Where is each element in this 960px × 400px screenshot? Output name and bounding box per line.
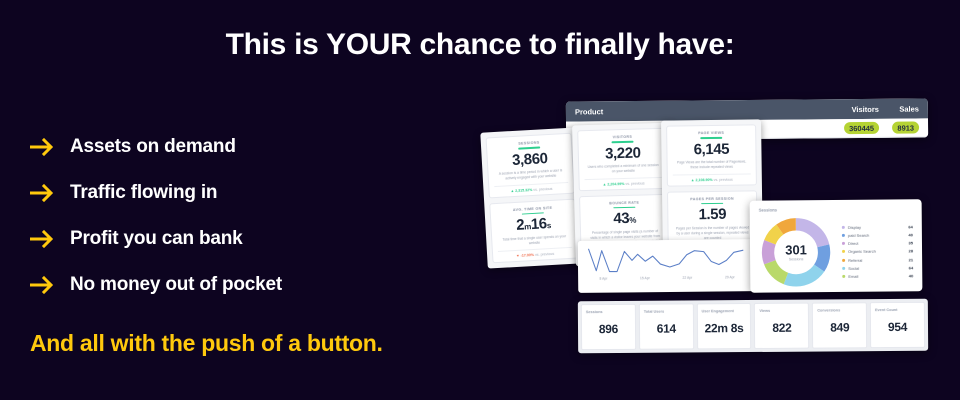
legend-value: 40 bbox=[909, 274, 913, 279]
list-item-label: Profit you can bank bbox=[64, 228, 243, 250]
metric-label: VISITORS bbox=[583, 134, 661, 140]
donut-total-value: 301 bbox=[785, 243, 807, 256]
metric-underline bbox=[522, 212, 544, 215]
list-item: Profit you can bank bbox=[30, 216, 450, 262]
donut-chart: 301 Sessions bbox=[759, 215, 834, 290]
benefit-list: Assets on demand Traffic flowing in Prof… bbox=[30, 124, 450, 308]
legend-label: Direct bbox=[848, 241, 909, 247]
metric-underline bbox=[700, 137, 722, 139]
kpi-label: Total Users bbox=[644, 309, 689, 313]
metric-card-stack-left: SESSIONS 3,860 A session is a time perio… bbox=[480, 127, 583, 268]
arrow-right-icon bbox=[30, 276, 64, 294]
trend-value: 2,204.99% bbox=[607, 182, 624, 186]
panel-title: Sessions bbox=[759, 206, 913, 212]
legend-swatch-icon bbox=[842, 226, 845, 229]
legend-value: 40 bbox=[908, 232, 912, 237]
page-title: This is YOUR chance to finally have: bbox=[0, 28, 960, 62]
metric-value-unit-2: s bbox=[547, 221, 552, 230]
metric-value: 1.59 bbox=[673, 207, 751, 224]
metric-value: 3,860 bbox=[492, 150, 567, 170]
totals-sales: 8913 bbox=[879, 121, 919, 133]
line-chart-svg bbox=[583, 241, 751, 277]
line-chart-x-axis: 8 Apr 15 Apr 22 Apr 29 Apr bbox=[583, 275, 751, 281]
kpi-label: Event Count bbox=[875, 308, 920, 312]
metric-label: BOUNCE RATE bbox=[585, 199, 663, 205]
kpi-value: 22m 8s bbox=[702, 321, 747, 335]
metric-value: 43% bbox=[585, 210, 663, 228]
list-item-label: Traffic flowing in bbox=[64, 182, 217, 204]
metric-trend: ▲ 2,108.90% vs. previous bbox=[673, 173, 751, 185]
metric-value: 6,145 bbox=[672, 141, 750, 158]
metric-value-sub: 16 bbox=[530, 215, 547, 233]
kpi-label: Conversions bbox=[817, 308, 862, 312]
legend-label: Social bbox=[848, 265, 909, 271]
column-header-sales: Sales bbox=[879, 104, 919, 113]
list-item: No money out of pocket bbox=[30, 262, 450, 308]
legend-swatch-icon bbox=[842, 242, 845, 245]
metric-value-main: 43 bbox=[613, 210, 629, 227]
metric-description: Page Views are the total number of Pagev… bbox=[675, 160, 749, 171]
x-tick: 15 Apr bbox=[640, 276, 650, 280]
donut-center-label: 301 Sessions bbox=[759, 215, 834, 290]
metric-label: SESSIONS bbox=[492, 139, 566, 147]
legend-swatch-icon bbox=[842, 250, 845, 253]
trend-value: 2,108.90% bbox=[695, 178, 712, 182]
legend-swatch-icon bbox=[842, 259, 845, 262]
x-tick: 22 Apr bbox=[682, 276, 692, 280]
trend-up-icon: ▲ bbox=[603, 182, 607, 186]
kpi-card-conversions: Conversions 849 bbox=[812, 302, 867, 348]
metric-value-unit: % bbox=[629, 216, 636, 225]
legend-value: 21 bbox=[909, 257, 913, 262]
trend-note: vs. previous bbox=[625, 181, 644, 186]
kpi-card-user-engagement: User Engagement 22m 8s bbox=[696, 303, 751, 349]
trend-up-icon: ▲ bbox=[510, 189, 514, 193]
closing-tagline: And all with the push of a button. bbox=[30, 330, 383, 357]
kpi-card-event-count: Event Count 954 bbox=[870, 302, 925, 348]
legend-label: paid Search bbox=[848, 232, 909, 238]
kpi-value: 849 bbox=[817, 320, 862, 334]
kpi-value: 954 bbox=[875, 320, 920, 334]
metric-value: 3,220 bbox=[584, 145, 662, 163]
metric-trend: ▲ 2,315.32% vs. previous bbox=[494, 182, 568, 197]
metric-label: PAGES PER SESSION bbox=[673, 196, 751, 201]
column-header-visitors: Visitors bbox=[827, 104, 879, 113]
list-item-label: Assets on demand bbox=[64, 136, 236, 158]
list-item-label: No money out of pocket bbox=[64, 274, 282, 296]
trend-note: vs. previous bbox=[535, 252, 554, 257]
metric-description: Total time that a single user spends on … bbox=[499, 234, 569, 248]
legend-item: Email 40 bbox=[842, 272, 913, 281]
legend-label: Organic Search bbox=[848, 249, 909, 255]
metric-underline bbox=[612, 141, 634, 143]
kpi-label: Sessions bbox=[586, 310, 631, 314]
trend-value: -17.00% bbox=[521, 253, 535, 258]
dashboard-collage: Product Visitors Sales TOTALS (101 items… bbox=[462, 88, 942, 373]
legend-swatch-icon bbox=[842, 234, 845, 237]
legend-value: 35 bbox=[909, 241, 913, 246]
kpi-value: 822 bbox=[759, 321, 804, 335]
legend-label: Email bbox=[848, 274, 909, 280]
donut-legend: Display 64 paid Search 40 Direct 35 Orga… bbox=[833, 222, 914, 281]
arrow-right-icon bbox=[30, 184, 64, 202]
totals-visitors: 360445 bbox=[827, 122, 879, 134]
kpi-card-total-users: Total Users 614 bbox=[639, 303, 694, 349]
x-tick: 8 Apr bbox=[599, 277, 607, 281]
metric-label: AVG. TIME ON SITE bbox=[496, 204, 570, 212]
legend-value: 64 bbox=[908, 224, 912, 229]
metric-card-sessions: SESSIONS 3,860 A session is a time perio… bbox=[486, 133, 575, 198]
legend-value: 64 bbox=[909, 265, 913, 270]
trend-up-icon: ▲ bbox=[691, 178, 695, 182]
column-header-product: Product bbox=[575, 105, 827, 116]
metric-label: PAGE VIEWS bbox=[672, 130, 750, 135]
kpi-value: 614 bbox=[644, 321, 689, 335]
metric-trend: ▲ 2,204.99% vs. previous bbox=[585, 176, 663, 189]
line-chart-panel: 8 Apr 15 Apr 22 Apr 29 Apr bbox=[578, 239, 757, 293]
metric-card-avg-time-on-site: AVG. TIME ON SITE 2m16s Total time that … bbox=[489, 198, 578, 263]
metric-underline bbox=[701, 202, 723, 204]
kpi-card-sessions: Sessions 896 bbox=[581, 304, 636, 350]
metric-description: A session is a time period in which a us… bbox=[496, 168, 566, 182]
kpi-value: 896 bbox=[586, 322, 631, 336]
arrow-right-icon bbox=[30, 138, 64, 156]
list-item: Assets on demand bbox=[30, 124, 450, 170]
kpi-label: User Engagement bbox=[702, 309, 747, 313]
trend-note: vs. previous bbox=[533, 186, 552, 191]
legend-label: Display bbox=[848, 224, 909, 230]
x-tick: 29 Apr bbox=[725, 275, 735, 279]
legend-value: 28 bbox=[909, 249, 913, 254]
sessions-donut-panel: Sessions 301 Sessions bbox=[750, 199, 923, 292]
kpi-card-views: Views 822 bbox=[754, 303, 809, 349]
metric-underline bbox=[613, 206, 635, 208]
legend-swatch-icon bbox=[842, 275, 845, 278]
metric-trend: ▼ -17.00% vs. previous bbox=[498, 247, 572, 262]
metric-description: Users who completed a minimum of one ses… bbox=[586, 163, 660, 175]
trend-note: vs. previous bbox=[714, 177, 733, 181]
trend-value: 2,315.32% bbox=[515, 188, 532, 193]
legend-swatch-icon bbox=[842, 267, 845, 270]
kpi-strip-panel: Sessions 896 Total Users 614 User Engage… bbox=[578, 299, 928, 353]
kpi-label: Views bbox=[759, 309, 804, 313]
list-item: Traffic flowing in bbox=[30, 170, 450, 216]
metric-card-visitors: VISITORS 3,220 Users who completed a min… bbox=[577, 128, 669, 191]
arrow-right-icon bbox=[30, 230, 64, 248]
totals-sales-value: 8913 bbox=[892, 121, 919, 133]
legend-label: Referral bbox=[848, 257, 909, 263]
metric-underline bbox=[518, 146, 540, 149]
totals-visitors-value: 360445 bbox=[844, 122, 879, 134]
metric-value: 2m16s bbox=[496, 215, 571, 235]
donut-total-caption: Sessions bbox=[789, 258, 804, 262]
metric-card-page-views: PAGE VIEWS 6,145 Page Views are the tota… bbox=[666, 124, 757, 186]
